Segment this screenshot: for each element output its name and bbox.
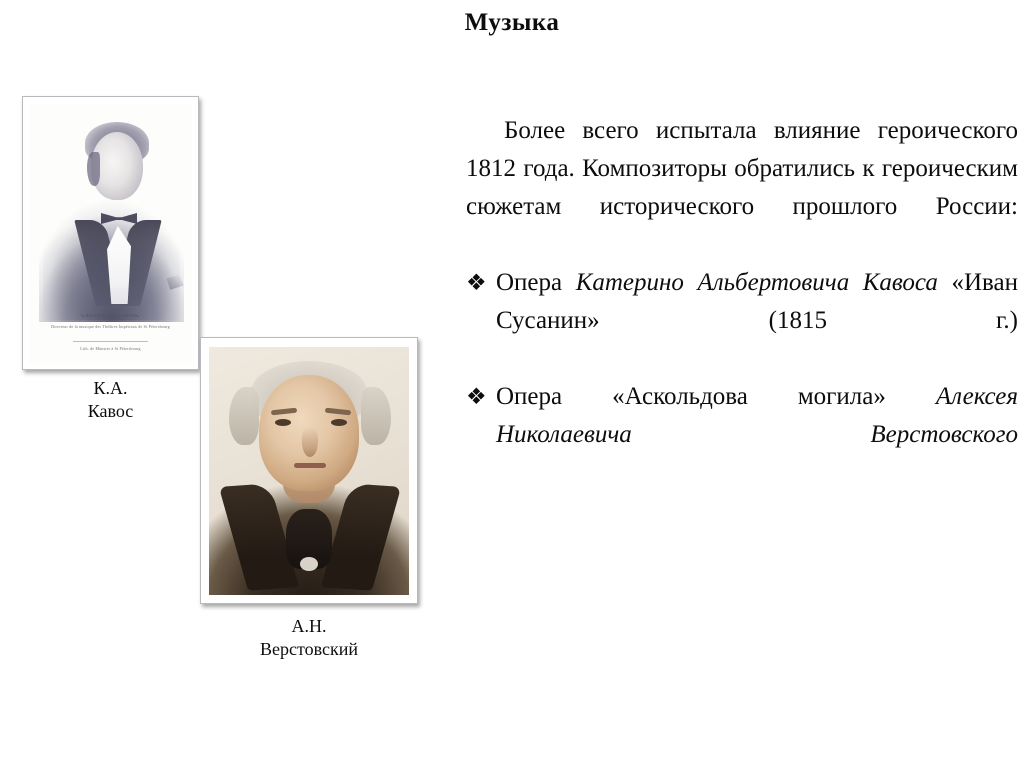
portrait-block-kavos: CATTERINO CAVOS, Directeur de la musique… <box>22 96 199 423</box>
painting-eye-right <box>331 419 347 426</box>
content-body: Более всего испытала влияние героическог… <box>466 112 1018 492</box>
painting-nose <box>302 427 318 457</box>
portrait-caption-verstovsky-line1: А.Н. <box>200 615 418 638</box>
lithograph-artwork: CATTERINO CAVOS, Directeur de la musique… <box>29 104 192 365</box>
page-title: Музыка <box>0 9 1024 37</box>
portrait-caption-verstovsky: А.Н. Верстовский <box>200 615 418 661</box>
painting-hair-left <box>229 387 259 445</box>
list-item: ❖ Опера Катерино Альбертовича Кавоса «Ив… <box>466 264 1018 378</box>
lithograph-plate-imprint: Lith. de Münster à St Pétersbourg <box>29 346 192 351</box>
lithograph-plate-title: CATTERINO CAVOS, <box>29 314 192 319</box>
portrait-block-verstovsky: А.Н. Верстовский <box>200 337 418 661</box>
list-item-text: Опера Катерино Альбертовича Кавоса «Иван… <box>496 269 1018 334</box>
portrait-caption-verstovsky-line2: Верстовский <box>200 638 418 661</box>
lithograph-plate-divider <box>73 341 148 342</box>
portrait-image-kavos[interactable]: CATTERINO CAVOS, Directeur de la musique… <box>22 96 199 370</box>
portrait-image-verstovsky[interactable] <box>200 337 418 604</box>
lithograph-plate-subtitle: Directeur de la musique des Théâtres Imp… <box>29 324 192 329</box>
lithograph-sideburn <box>87 152 100 186</box>
bullet-list: ❖ Опера Катерино Альбертовича Кавоса «Ив… <box>466 264 1018 492</box>
list-item-text: Опера «Аскольдова могила» Алексея Никола… <box>496 383 1018 448</box>
portrait-caption-kavos-line2: Кавос <box>22 400 199 423</box>
lithograph-figure <box>29 108 192 320</box>
painting-hair-right <box>361 387 391 445</box>
diamond-bullet-icon: ❖ <box>466 378 487 416</box>
diamond-bullet-icon: ❖ <box>466 264 487 302</box>
painting-eye-left <box>275 419 291 426</box>
portrait-caption-kavos-line1: К.А. <box>22 377 199 400</box>
painting-artwork <box>209 347 409 595</box>
lead-paragraph: Более всего испытала влияние героическог… <box>466 112 1018 264</box>
painting-cravat-knot <box>300 557 318 571</box>
painting-mouth <box>294 463 326 468</box>
portrait-caption-kavos: К.А. Кавос <box>22 377 199 423</box>
list-item: ❖ Опера «Аскольдова могила» Алексея Нико… <box>466 378 1018 492</box>
